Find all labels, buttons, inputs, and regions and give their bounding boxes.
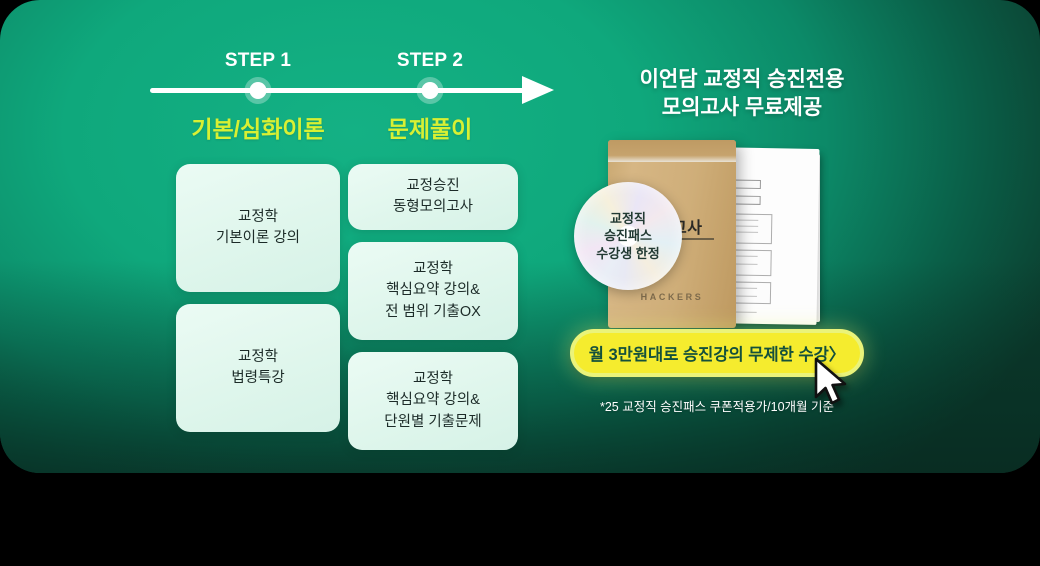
course-card-line: 교정학 bbox=[413, 369, 453, 390]
course-card-line: 교정학 bbox=[238, 347, 278, 368]
cd-badge: 교정직 승진패스 수강생 한정 bbox=[574, 182, 682, 290]
course-card-line: 핵심요약 강의& bbox=[386, 280, 480, 301]
cd-badge-text: 교정직 승진패스 수강생 한정 bbox=[596, 210, 659, 261]
course-card[interactable]: 교정학 기본이론 강의 bbox=[176, 164, 340, 292]
course-card-line: 교정승진 bbox=[406, 176, 459, 197]
course-card-line: 법령특강 bbox=[231, 368, 284, 389]
course-card[interactable]: 교정학 핵심요약 강의& 단원별 기출문제 bbox=[348, 352, 518, 450]
headline-line-2: 모의고사 무료제공 bbox=[592, 94, 892, 122]
curriculum-column-step2: 교정승진 동형모의고사 교정학 핵심요약 강의& 전 범위 기출OX 교정학 핵… bbox=[348, 164, 518, 462]
mouse-cursor-icon bbox=[812, 356, 852, 408]
promo-banner: STEP 1 STEP 2 기본/심화이론 문제풀이 교정학 기본이론 강의 교… bbox=[0, 0, 1040, 473]
course-card[interactable]: 교정학 법령특강 bbox=[176, 304, 340, 432]
course-card-line: 핵심요약 강의& bbox=[386, 390, 480, 411]
course-card-line: 기본이론 강의 bbox=[216, 228, 300, 249]
curriculum-column-step1: 교정학 기본이론 강의 교정학 법령특강 bbox=[176, 164, 340, 444]
course-card-line: 교정학 bbox=[413, 259, 453, 280]
curriculum-timeline: STEP 1 STEP 2 기본/심화이론 문제풀이 bbox=[150, 44, 570, 154]
course-card-line: 교정학 bbox=[238, 207, 278, 228]
cd-badge-line-3: 수강생 한정 bbox=[596, 245, 659, 262]
envelope-brand: HACKERS bbox=[608, 292, 736, 302]
course-card-line: 전 범위 기출OX bbox=[385, 302, 481, 323]
phase-label-2: 문제풀이 bbox=[388, 110, 473, 144]
timeline-dot-2 bbox=[422, 82, 439, 99]
timeline-arrow-icon bbox=[522, 76, 554, 104]
promo-headline: 이언담 교정직 승진전용 모의고사 무료제공 bbox=[592, 66, 892, 122]
timeline-dot-1 bbox=[250, 82, 267, 99]
timeline-axis bbox=[150, 88, 530, 93]
step-label-2: STEP 2 bbox=[397, 50, 463, 72]
course-card-line: 동형모의고사 bbox=[393, 197, 473, 218]
cd-badge-line-2: 승진패스 bbox=[596, 227, 659, 244]
phase-label-1: 기본/심화이론 bbox=[191, 110, 324, 144]
course-card[interactable]: 교정학 핵심요약 강의& 전 범위 기출OX bbox=[348, 242, 518, 340]
course-card-line: 단원별 기출문제 bbox=[384, 412, 481, 433]
envelope-flap bbox=[608, 140, 736, 162]
headline-line-1: 이언담 교정직 승진전용 bbox=[592, 66, 892, 94]
product-image: 제1회 고사 모의고사 HACKERS 교정직 bbox=[560, 140, 900, 340]
step-label-1: STEP 1 bbox=[225, 50, 291, 72]
course-card[interactable]: 교정승진 동형모의고사 bbox=[348, 164, 518, 230]
cd-badge-line-1: 교정직 bbox=[596, 210, 659, 227]
